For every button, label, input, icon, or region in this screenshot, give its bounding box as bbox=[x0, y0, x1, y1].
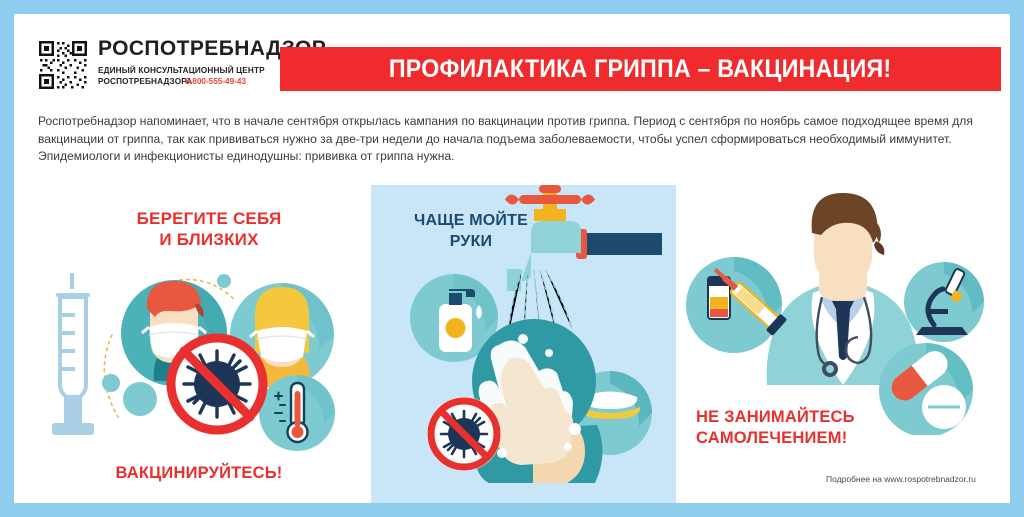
no-virus-icon bbox=[427, 397, 501, 471]
brand-subtitle-line1: ЕДИНЫЙ КОНСУЛЬТАЦИОННЫЙ ЦЕНТР bbox=[98, 66, 265, 75]
cta-line2: САМОЛЕЧЕНИЕМ! bbox=[696, 428, 926, 449]
syringe-icon bbox=[52, 273, 94, 435]
header: РОСПОТРЕБНАДЗОР ЕДИНЫЙ КОНСУЛЬТАЦИОННЫЙ … bbox=[14, 14, 1010, 104]
no-virus-icon bbox=[167, 334, 267, 434]
poster-root: РОСПОТРЕБНАДЗОР ЕДИНЫЙ КОНСУЛЬТАЦИОННЫЙ … bbox=[0, 0, 1024, 517]
banner: ПРОФИЛАКТИКА ГРИППА – ВАКЦИНАЦИЯ! bbox=[280, 47, 1001, 91]
poster-sheet: РОСПОТРЕБНАДЗОР ЕДИНЫЙ КОНСУЛЬТАЦИОННЫЙ … bbox=[14, 14, 1010, 503]
panel-protect-yourself: БЕРЕГИТЕ СЕБЯ И БЛИЗКИХ bbox=[14, 185, 371, 503]
wash-hands-illustration bbox=[371, 185, 676, 503]
protect-yourself-illustration bbox=[14, 185, 371, 475]
cta-line1: НЕ ЗАНИМАЙТЕСЬ bbox=[696, 407, 926, 428]
hotline-phone: 8-800-555-49-43 bbox=[185, 77, 246, 86]
panel-no-self-medication: НЕ ЗАНИМАЙТЕСЬ САМОЛЕЧЕНИЕМ! bbox=[676, 185, 1010, 503]
panel-no-self-medication-cta: НЕ ЗАНИМАЙТЕСЬ САМОЛЕЧЕНИЕМ! bbox=[696, 407, 926, 449]
panel-wash-hands: ЧАЩЕ МОЙТЕ РУКИ bbox=[371, 185, 676, 503]
qr-code-icon bbox=[38, 40, 88, 90]
faucet-icon bbox=[505, 185, 662, 291]
footer-note: Подробнее на www.rospotrebnadzor.ru bbox=[826, 474, 976, 484]
thermometer-icon bbox=[259, 375, 335, 451]
panel-protect-cta: ВАКЦИНИРУЙТЕСЬ! bbox=[74, 463, 324, 484]
doctor-illustration bbox=[676, 185, 1010, 435]
brand-subtitle-line2: РОСПОТРЕБНАДЗОРА bbox=[98, 77, 192, 86]
banner-title: ПРОФИЛАКТИКА ГРИППА – ВАКЦИНАЦИЯ! bbox=[389, 55, 891, 84]
intro-paragraph: Роспотребнадзор напоминает, что в начале… bbox=[38, 113, 988, 166]
logo-block: РОСПОТРЕБНАДЗОР ЕДИНЫЙ КОНСУЛЬТАЦИОННЫЙ … bbox=[38, 37, 288, 99]
microscope-icon bbox=[904, 262, 984, 342]
